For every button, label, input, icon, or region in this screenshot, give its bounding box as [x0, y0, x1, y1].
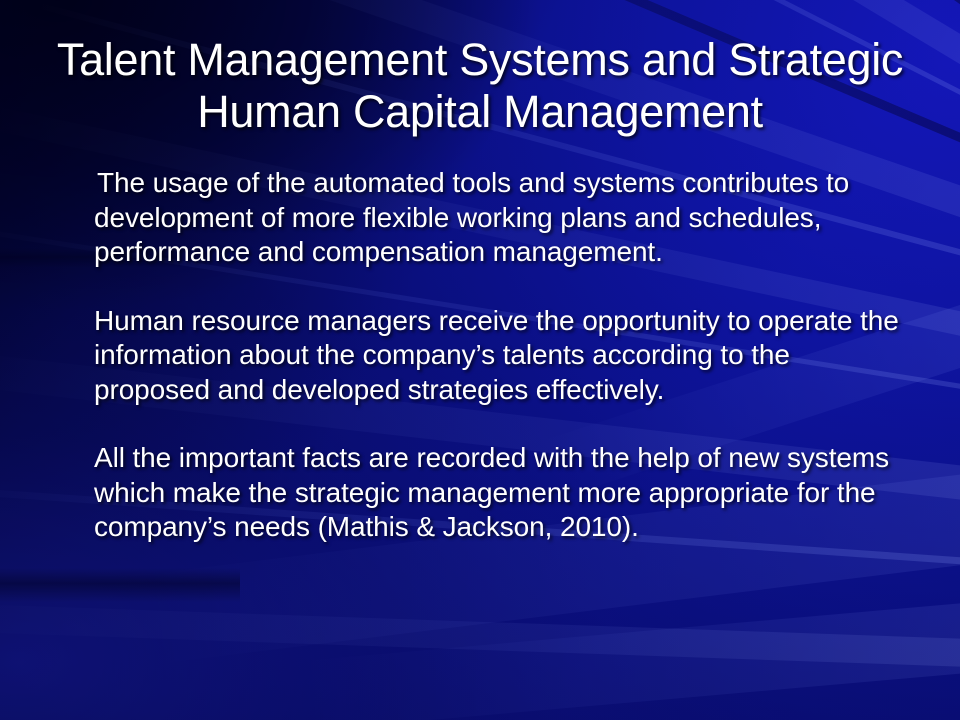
page-title: Talent Management Systems and Strategic …	[40, 34, 920, 138]
slide-content: Talent Management Systems and Strategic …	[0, 0, 960, 720]
body-paragraph: All the important facts are recorded wit…	[94, 441, 909, 545]
body-paragraph: The usage of the automated tools and sys…	[94, 166, 909, 270]
slide-canvas: Talent Management Systems and Strategic …	[0, 0, 960, 720]
body-paragraph: Human resource managers receive the oppo…	[94, 304, 909, 408]
slide-body: The usage of the automated tools and sys…	[94, 166, 909, 545]
